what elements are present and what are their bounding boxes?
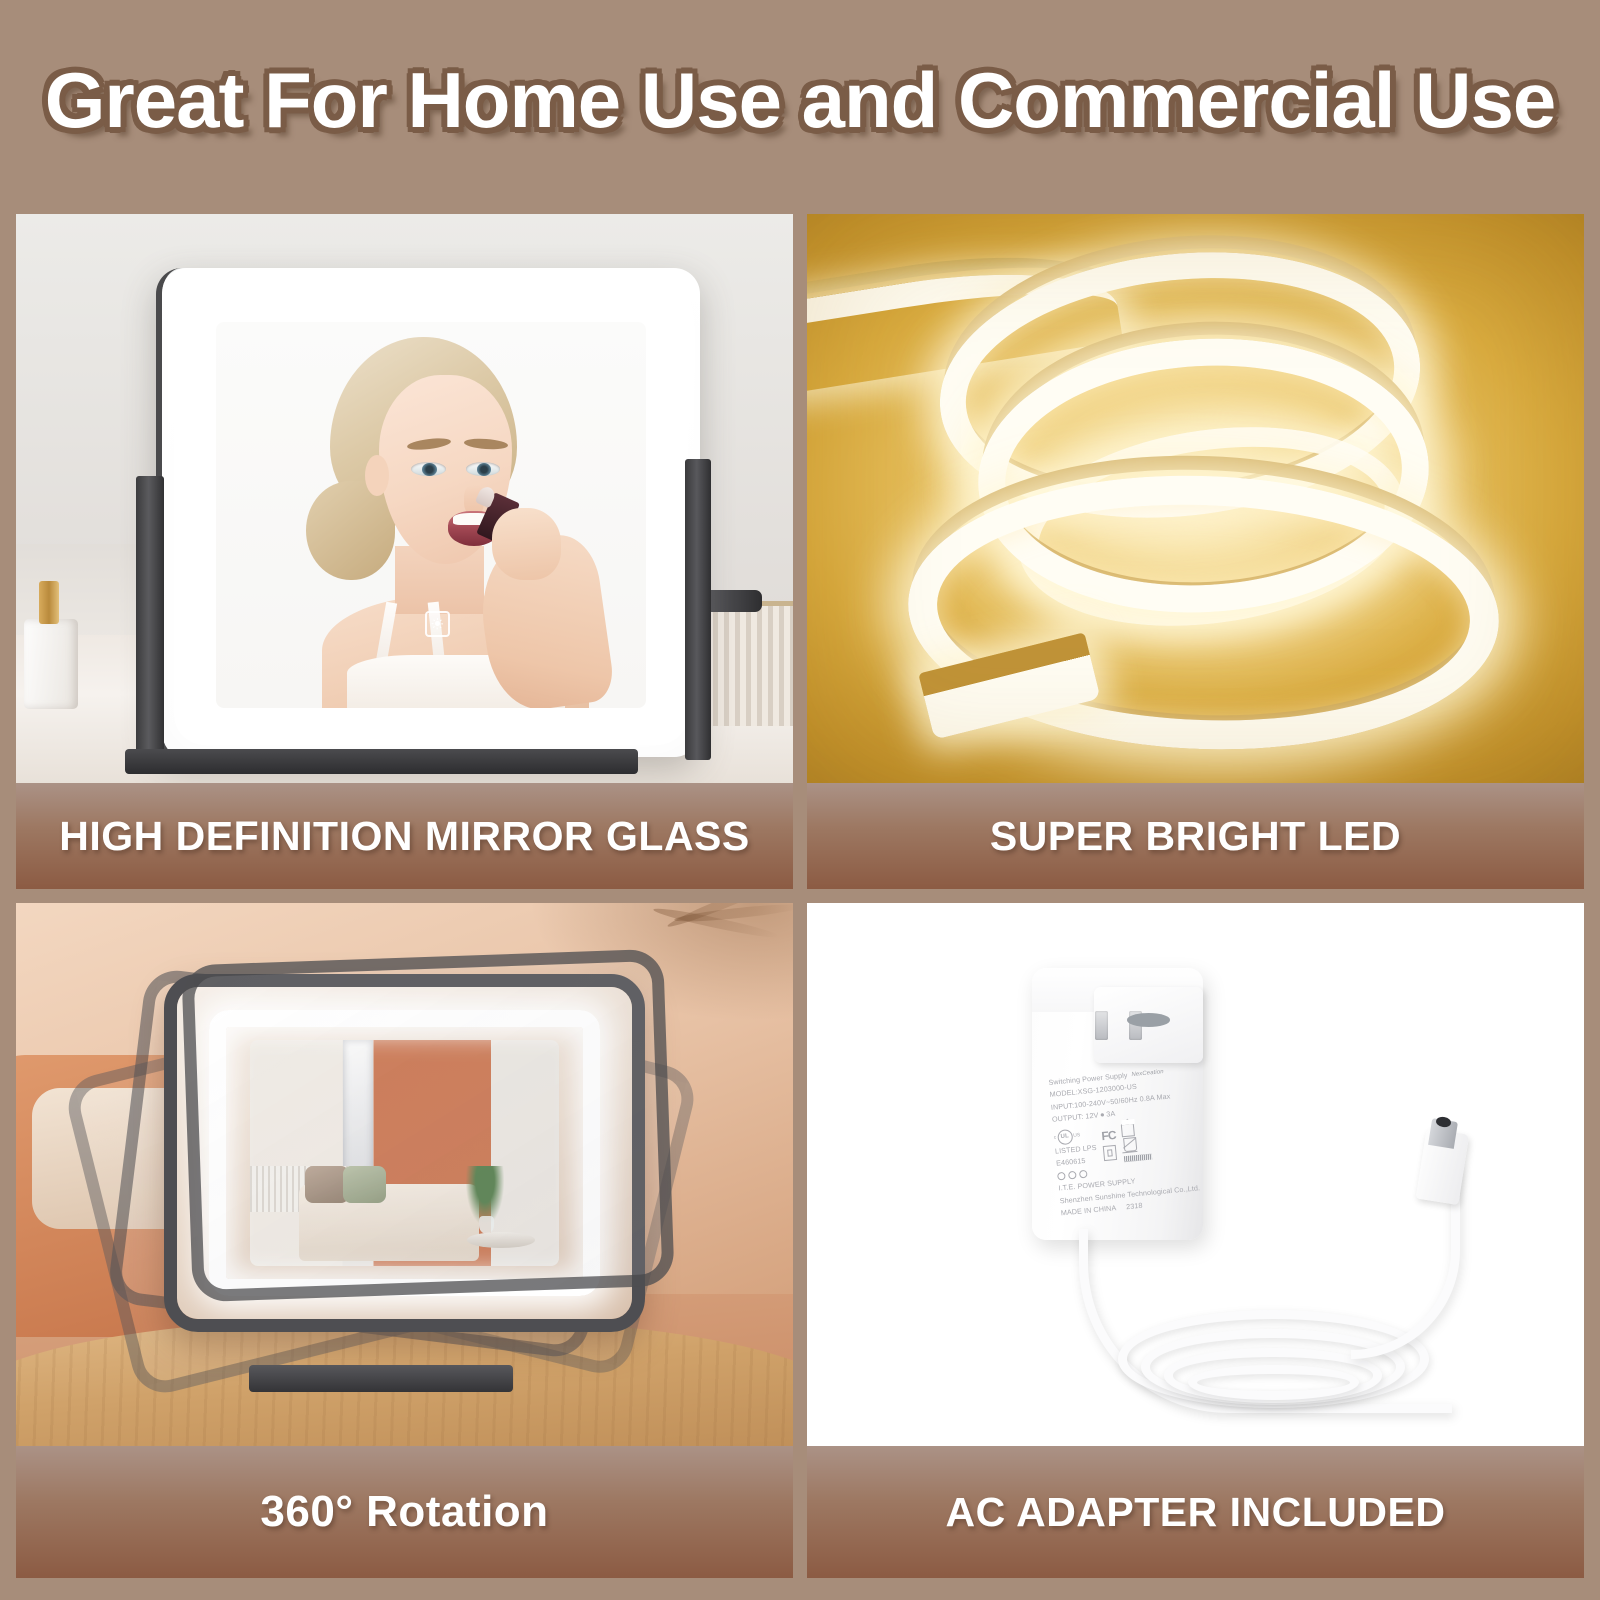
cable-coil xyxy=(1188,1365,1359,1400)
class-ii-double-square-icon xyxy=(1102,1145,1116,1161)
adapter-spec-label: Switching Power Supply NexCeation MODEL:… xyxy=(1048,1063,1209,1234)
ac-power-adapter: Switching Power Supply NexCeation MODEL:… xyxy=(1032,968,1203,1240)
ul-suffix: US xyxy=(1073,1131,1081,1140)
caption-band-mirror-glass: HIGH DEFINITION MIRROR GLASS xyxy=(16,783,793,889)
mirror-stand-left xyxy=(136,476,164,761)
vanity-mirror xyxy=(156,268,700,757)
caption-band-ac-adapter: AC ADAPTER INCLUDED xyxy=(807,1446,1584,1578)
ul-prefix: c xyxy=(1053,1133,1056,1142)
brightness-sun-icon[interactable] xyxy=(425,611,450,637)
caption-band-360-rotation: 360° Rotation xyxy=(16,1446,793,1578)
woman-applying-lipstick xyxy=(241,330,646,709)
caption-label: SUPER BRIGHT LED xyxy=(990,813,1401,860)
photo-ac-adapter: Switching Power Supply NexCeation MODEL:… xyxy=(807,903,1584,1446)
caption-label: AC ADAPTER INCLUDED xyxy=(946,1489,1446,1536)
ul-circle-icon: UL xyxy=(1056,1128,1072,1144)
header-banner: Great For Home Use and Commercial Use xyxy=(0,0,1600,200)
feature-card-ac-adapter-included[interactable]: Switching Power Supply NexCeation MODEL:… xyxy=(807,903,1584,1578)
mirror-base xyxy=(249,1365,513,1392)
caption-label: 360° Rotation xyxy=(260,1487,548,1537)
label-date-code: 2318 xyxy=(1125,1199,1142,1213)
feature-card-360-rotation[interactable]: 360° Rotation xyxy=(16,903,793,1578)
photo-360-rotation xyxy=(16,903,793,1446)
plug-prong xyxy=(1095,1011,1108,1040)
indoor-use-house-icon xyxy=(1120,1122,1134,1136)
feature-card-high-definition-mirror-glass[interactable]: HIGH DEFINITION MIRROR GLASS xyxy=(16,214,793,889)
perfume-bottle xyxy=(24,584,78,709)
photo-mirror-glass xyxy=(16,214,793,783)
caption-band-super-bright-led: SUPER BRIGHT LED xyxy=(807,783,1584,889)
mirror-base xyxy=(125,749,638,775)
fcc-icon: FC xyxy=(1101,1127,1116,1142)
mirror-stand-right xyxy=(685,459,711,761)
rotation-ghost-frame xyxy=(181,949,674,1302)
plug-face-plate xyxy=(1094,987,1203,1063)
weee-crossed-bin-icon xyxy=(1121,1135,1135,1152)
photo-led-strip xyxy=(807,214,1584,783)
mirror-reflection xyxy=(216,322,646,709)
feature-grid: HIGH DEFINITION MIRROR GLASS SUPER BRIGH… xyxy=(16,214,1584,1578)
page-title: Great For Home Use and Commercial Use xyxy=(45,55,1556,146)
feature-card-super-bright-led[interactable]: SUPER BRIGHT LED xyxy=(807,214,1584,889)
barcode xyxy=(1123,1153,1151,1162)
caption-label: HIGH DEFINITION MIRROR GLASS xyxy=(59,813,750,860)
